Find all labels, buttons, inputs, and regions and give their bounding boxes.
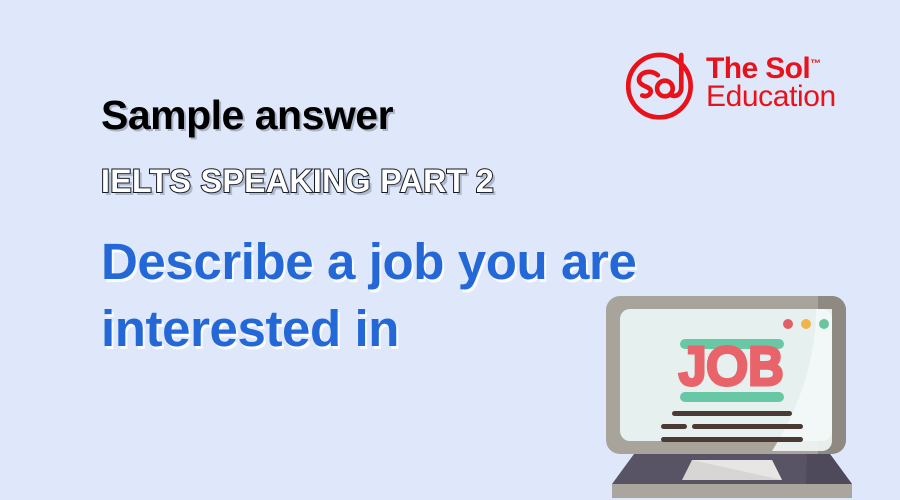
screen-text-line-3 [661,437,803,442]
brand-wordmark: The Sol™ Education [706,55,836,111]
brand-line-1-text: The Sol [706,52,810,85]
maximize-dot-icon [819,319,829,329]
brand-logo: The Sol™ Education [622,44,836,122]
screen-text-line-1 [672,411,792,416]
screen-text-line-2a [661,424,687,429]
brand-line-1: The Sol™ [706,55,836,83]
trademark-symbol: ™ [810,58,821,70]
brand-line-2: Education [706,83,836,111]
section-subtitle: IELTS SPEAKING PART 2 [101,163,494,200]
slide-canvas: The Sol™ Education Sample answer IELTS S… [0,0,900,500]
eyebrow-heading: Sample answer [101,92,393,139]
laptop-base-shade [806,454,852,484]
laptop-illustration: JOB [592,292,872,500]
screen-heading-job: JOB [680,338,784,396]
screen-text-line-2b [692,424,803,429]
minimize-dot-icon [801,319,811,329]
close-dot-icon [783,319,793,329]
sol-circle-logo-icon [622,44,700,122]
accent-bar-bottom [680,392,784,402]
laptop-base-edge [612,484,852,498]
